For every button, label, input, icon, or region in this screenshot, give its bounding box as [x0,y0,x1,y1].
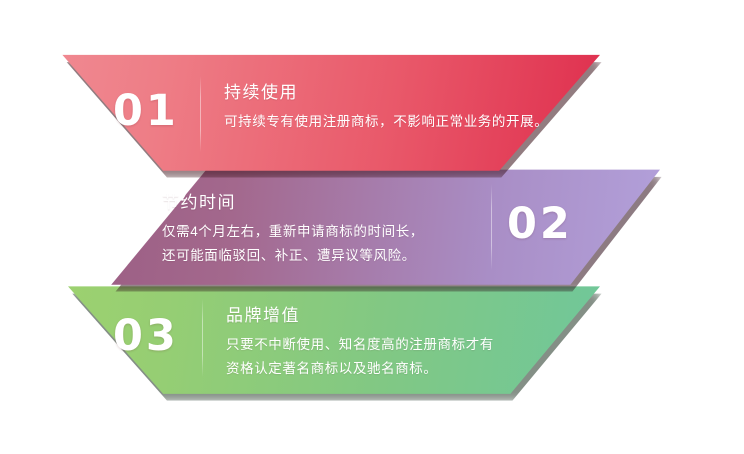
banner-item-01[interactable]: 01 持续使用 可持续专有使用注册商标，不影响正常业务的开展。 [40,50,600,172]
banner-description: 可持续专有使用注册商标，不影响正常业务的开展。 [224,110,548,134]
banner-description: 仅需4个月左右，重新申请商标的时间长， 还可能面临驳回、补正、遭异议等风险。 [162,220,424,267]
banner-step-number: 02 [507,203,573,246]
banner-divider [200,76,201,152]
banner-step-number: 03 [113,315,179,358]
banner-item-02[interactable]: 02 节约时间 仅需4个月左右，重新申请商标的时间长， 还可能面临驳回、补正、遭… [100,166,660,286]
banner-title: 持续使用 [224,82,548,103]
banner-divider [491,184,492,270]
banner-description-line: 还可能面临驳回、补正、遭异议等风险。 [162,244,424,268]
banner-title: 节约时间 [162,192,424,213]
banner-content: 03 品牌增值 只要不中断使用、知名度高的注册商标才有 资格认定著名商标以及驰名… [40,283,600,395]
infographic-canvas: 01 持续使用 可持续专有使用注册商标，不影响正常业务的开展。 02 节约时间 … [0,0,744,454]
banner-text-block: 节约时间 仅需4个月左右，重新申请商标的时间长， 还可能面临驳回、补正、遭异议等… [162,192,424,268]
banner-content: 01 持续使用 可持续专有使用注册商标，不影响正常业务的开展。 [40,50,600,172]
banner-description-line: 可持续专有使用注册商标，不影响正常业务的开展。 [224,110,548,134]
banner-description: 只要不中断使用、知名度高的注册商标才有 资格认定著名商标以及驰名商标。 [226,333,494,380]
banner-divider [202,299,203,377]
banner-step-number: 01 [113,90,179,133]
banner-description-line: 资格认定著名商标以及驰名商标。 [226,357,494,381]
banner-description-line: 仅需4个月左右，重新申请商标的时间长， [162,220,424,244]
banner-text-block: 品牌增值 只要不中断使用、知名度高的注册商标才有 资格认定著名商标以及驰名商标。 [226,305,494,381]
banner-description-line: 只要不中断使用、知名度高的注册商标才有 [226,333,494,357]
banner-item-03[interactable]: 03 品牌增值 只要不中断使用、知名度高的注册商标才有 资格认定著名商标以及驰名… [40,283,600,395]
banner-content: 02 节约时间 仅需4个月左右，重新申请商标的时间长， 还可能面临驳回、补正、遭… [100,166,660,286]
banner-text-block: 持续使用 可持续专有使用注册商标，不影响正常业务的开展。 [224,82,548,134]
banner-title: 品牌增值 [226,305,494,326]
